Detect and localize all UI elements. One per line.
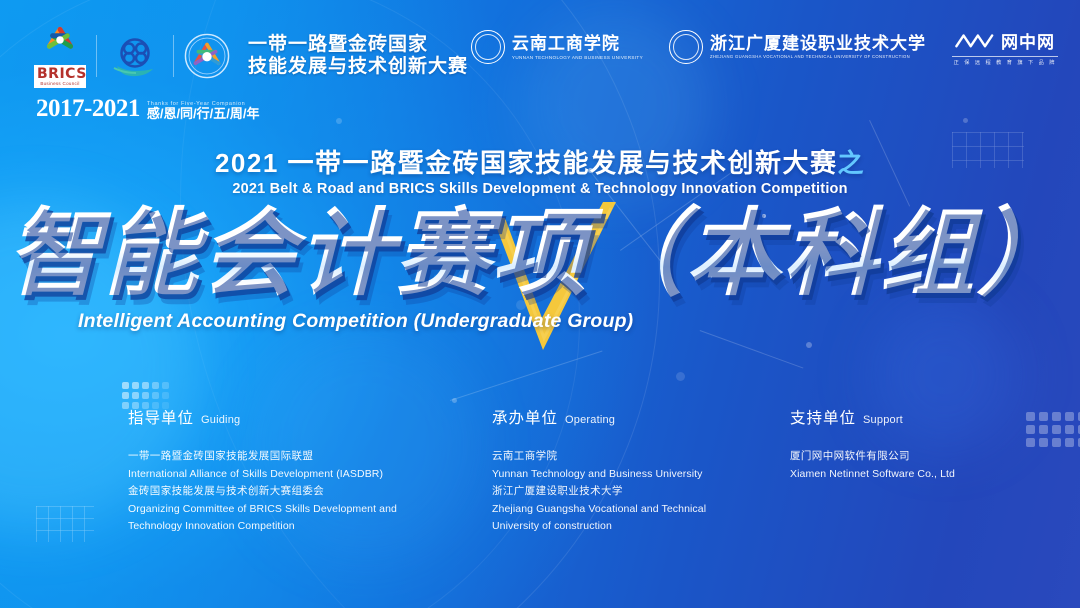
zhejiang-seal-icon	[669, 30, 703, 64]
yunnan-name-en: YUNNAN TECHNOLOGY AND BUSINESS UNIVERSIT…	[512, 55, 643, 60]
decorative-dot	[452, 398, 457, 403]
netinnet-divider	[952, 56, 1058, 57]
footer-heading-support-en: Support	[863, 414, 903, 426]
anniversary-text: Thanks for Five-Year Companion 感/恩/同/行/五…	[147, 102, 260, 121]
anniversary-chinese: 感/恩/同/行/五/周/年	[147, 107, 260, 121]
yunnan-name-cn: 云南工商学院	[512, 34, 643, 53]
footer-heading-support-cn: 支持单位	[790, 406, 856, 428]
decorative-line	[700, 330, 804, 369]
headline-cn: 2021 一带一路暨金砖国家技能发展与技术创新大赛之	[0, 148, 1080, 178]
skills-alliance-emblem-icon	[107, 33, 163, 79]
event-title-line2: 技能发展与技术创新大赛	[248, 56, 468, 78]
zhejiang-text: 浙江广厦建设职业技术大学 ZHEJIANG GUANGSHA VOCATIONA…	[710, 34, 926, 60]
footer-line: 金砖国家技能发展与技术创新大赛组委会	[128, 483, 397, 501]
decorative-dot	[676, 372, 685, 381]
netinnet-tagline: 正 保 远 程 教 育 旗 下 品 牌	[954, 59, 1057, 66]
event-title-line1: 一带一路暨金砖国家	[248, 34, 468, 56]
logo-divider	[173, 35, 174, 77]
partner-logo-yunnan: 云南工商学院 YUNNAN TECHNOLOGY AND BUSINESS UN…	[471, 30, 643, 64]
footer-heading-support: 支持单位 Support	[790, 406, 955, 428]
poster-banner: BRICS Business Council	[0, 0, 1080, 608]
headline-cn-main: 2021 一带一路暨金砖国家技能发展与技术创新大赛	[215, 148, 838, 178]
zhejiang-name-en: ZHEJIANG GUANGSHA VOCATIONAL AND TECHNIC…	[710, 55, 926, 60]
footer-line: 厦门网中网软件有限公司	[790, 448, 955, 466]
footer-line: 浙江广厦建设职业技术大学	[492, 483, 706, 501]
footer-heading-operating-en: Operating	[565, 414, 615, 426]
netinnet-zigzag-icon	[955, 32, 995, 49]
footer-line: International Alliance of Skills Develop…	[128, 466, 397, 484]
brics-logo-group: BRICS Business Council	[34, 24, 468, 88]
footer-column-support: 支持单位 Support 厦门网中网软件有限公司 Xiamen Netinnet…	[790, 406, 955, 483]
decorative-dot-matrix	[122, 382, 169, 409]
brics-wordmark: BRICS	[34, 65, 86, 81]
footer-heading-guiding: 指导单位 Guiding	[128, 406, 397, 428]
yunnan-seal-icon	[471, 30, 505, 64]
main-title-wrap: 智能会计赛项（本科组）	[0, 202, 1080, 306]
decorative-dot-matrix	[1026, 412, 1080, 447]
netinnet-name-cn: 网中网	[1001, 28, 1055, 53]
footer-line: Technology Innovation Competition	[128, 518, 397, 536]
logo-divider	[96, 35, 97, 77]
footer-column-operating: 承办单位 Operating 云南工商学院 Yunnan Technology …	[492, 406, 706, 536]
footer-line: University of construction	[492, 518, 706, 536]
brics-logo: BRICS Business Council	[34, 24, 86, 88]
headline-cn-suffix: 之	[838, 148, 866, 178]
decorative-grid	[36, 506, 94, 542]
footer-heading-guiding-en: Guiding	[201, 414, 240, 426]
yunnan-text: 云南工商学院 YUNNAN TECHNOLOGY AND BUSINESS UN…	[512, 34, 643, 60]
footer-line: Yunnan Technology and Business Universit…	[492, 466, 706, 484]
footer-line: 云南工商学院	[492, 448, 706, 466]
hero-headline: 2021 一带一路暨金砖国家技能发展与技术创新大赛之 2021 Belt & R…	[0, 148, 1080, 197]
main-title-cn: 智能会计赛项（本科组）	[6, 202, 1073, 306]
footer-heading-operating-cn: 承办单位	[492, 406, 558, 428]
footer-column-guiding: 指导单位 Guiding 一带一路暨金砖国家技能发展国际联盟 Internati…	[128, 406, 397, 536]
event-title-cn: 一带一路暨金砖国家 技能发展与技术创新大赛	[248, 34, 468, 79]
footer-heading-operating: 承办单位 Operating	[492, 406, 706, 428]
main-title-en: Intelligent Accounting Competition (Unde…	[78, 310, 633, 333]
anniversary-years: 2017-2021	[36, 96, 140, 121]
footer-heading-guiding-cn: 指导单位	[128, 406, 194, 428]
partner-logos: 云南工商学院 YUNNAN TECHNOLOGY AND BUSINESS UN…	[471, 28, 1058, 66]
poster-header: BRICS Business Council	[0, 0, 1080, 132]
brics-star-icon	[43, 24, 77, 58]
footer-line: 一带一路暨金砖国家技能发展国际联盟	[128, 448, 397, 466]
partner-logo-netinnet: 网中网 正 保 远 程 教 育 旗 下 品 牌	[952, 28, 1058, 66]
footer-line: Organizing Committee of BRICS Skills Dev…	[128, 501, 397, 519]
footer-line: Xiamen Netinnet Software Co., Ltd	[790, 466, 955, 484]
partner-logo-zhejiang: 浙江广厦建设职业技术大学 ZHEJIANG GUANGSHA VOCATIONA…	[669, 30, 926, 64]
headline-en: 2021 Belt & Road and BRICS Skills Develo…	[0, 181, 1080, 197]
netinnet-row: 网中网	[955, 28, 1055, 53]
footer-line: Zhejiang Guangsha Vocational and Technic…	[492, 501, 706, 519]
decorative-dot	[806, 342, 812, 348]
brics-sub-label: Business Council	[34, 81, 86, 88]
competition-emblem-icon	[184, 33, 230, 79]
anniversary-badge: 2017-2021 Thanks for Five-Year Companion…	[36, 96, 260, 121]
zhejiang-name-cn: 浙江广厦建设职业技术大学	[710, 34, 926, 53]
